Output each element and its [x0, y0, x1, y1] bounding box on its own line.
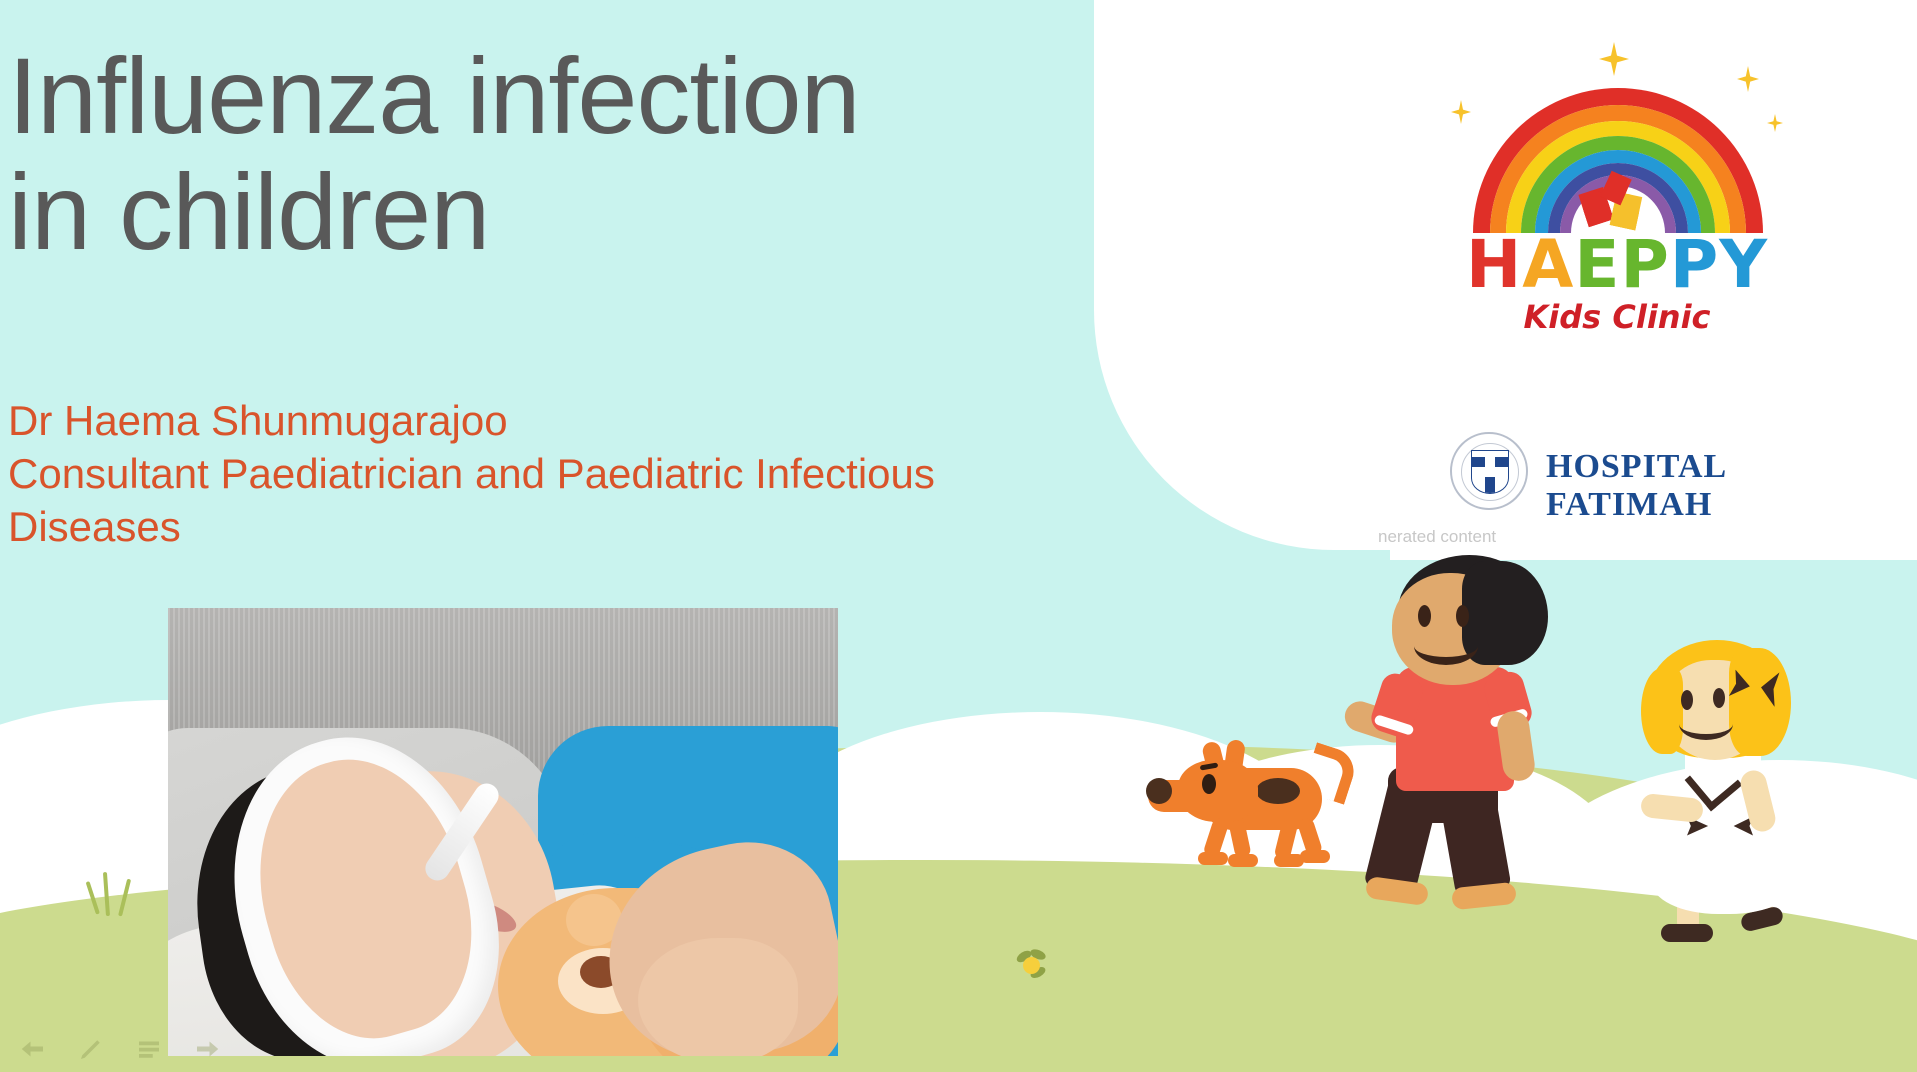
dog-paw: [1228, 854, 1258, 867]
flower-core: [1023, 957, 1040, 974]
walking-boy: [1370, 555, 1600, 915]
sparkle-icon: [1767, 114, 1783, 132]
haeppy-letter: P: [1670, 232, 1719, 298]
alt-text-caption-fragment: nerated content: [1378, 527, 1496, 547]
presenter-subtitle: Dr Haema Shunmugarajoo Consultant Paedia…: [8, 395, 1118, 554]
boy-left-shoe: [1365, 876, 1429, 906]
dog-paw: [1198, 852, 1228, 865]
girl-eye: [1713, 688, 1725, 708]
girl-hair-left: [1641, 668, 1683, 754]
shield-quadrant: [1485, 477, 1495, 493]
sparkle-icon: [1599, 42, 1629, 76]
shield-quadrant: [1495, 457, 1508, 467]
haeppy-kids-clinic-logo: HAEPPY Kids Clinic: [1437, 42, 1797, 332]
haeppy-letter: H: [1466, 232, 1522, 298]
dog-nose: [1146, 778, 1172, 804]
girl-left-shoe: [1661, 924, 1713, 942]
boy-right-leg: [1436, 773, 1511, 897]
walking-girl: [1637, 640, 1852, 940]
presentation-slide: Influenza infection in children Dr Haema…: [0, 0, 1917, 1072]
dog-spot: [1256, 778, 1300, 804]
shield-icon: [1471, 450, 1509, 494]
haeppy-letter: Y: [1719, 232, 1768, 298]
photo-child-hand: [638, 938, 798, 1056]
girl-hair-right: [1729, 648, 1791, 756]
ground-flower: [1018, 952, 1044, 978]
slide-toolbar: [18, 1034, 222, 1064]
hospital-fatimah-seal-icon: [1450, 432, 1528, 510]
sparkle-icon: [1451, 100, 1471, 124]
hospital-fatimah-logo: HOSPITAL FATIMAH: [1450, 432, 1870, 506]
menu-lines-icon[interactable]: [134, 1034, 164, 1064]
boy-smile: [1414, 627, 1478, 665]
forward-arrow-icon[interactable]: [192, 1034, 222, 1064]
shield-quadrant: [1472, 457, 1485, 467]
boy-eye: [1418, 605, 1431, 627]
hospital-fatimah-name: HOSPITAL FATIMAH: [1546, 448, 1870, 524]
haeppy-letter: A: [1522, 232, 1574, 298]
pencil-icon[interactable]: [76, 1034, 106, 1064]
dog-paw: [1300, 850, 1330, 863]
haeppy-tagline: Kids Clinic: [1437, 298, 1797, 336]
girl-smile: [1679, 708, 1733, 740]
girl-eye: [1681, 690, 1693, 710]
running-dog: [1150, 740, 1350, 880]
haeppy-wordmark: HAEPPY: [1437, 232, 1797, 298]
boy-eye: [1456, 605, 1469, 627]
haeppy-letter: P: [1620, 232, 1669, 298]
back-arrow-icon[interactable]: [18, 1034, 48, 1064]
dog-eye: [1202, 774, 1216, 794]
sick-child-photo: [168, 608, 838, 1056]
page-title: Influenza infection in children: [8, 38, 1088, 269]
haeppy-letter: E: [1574, 232, 1620, 298]
